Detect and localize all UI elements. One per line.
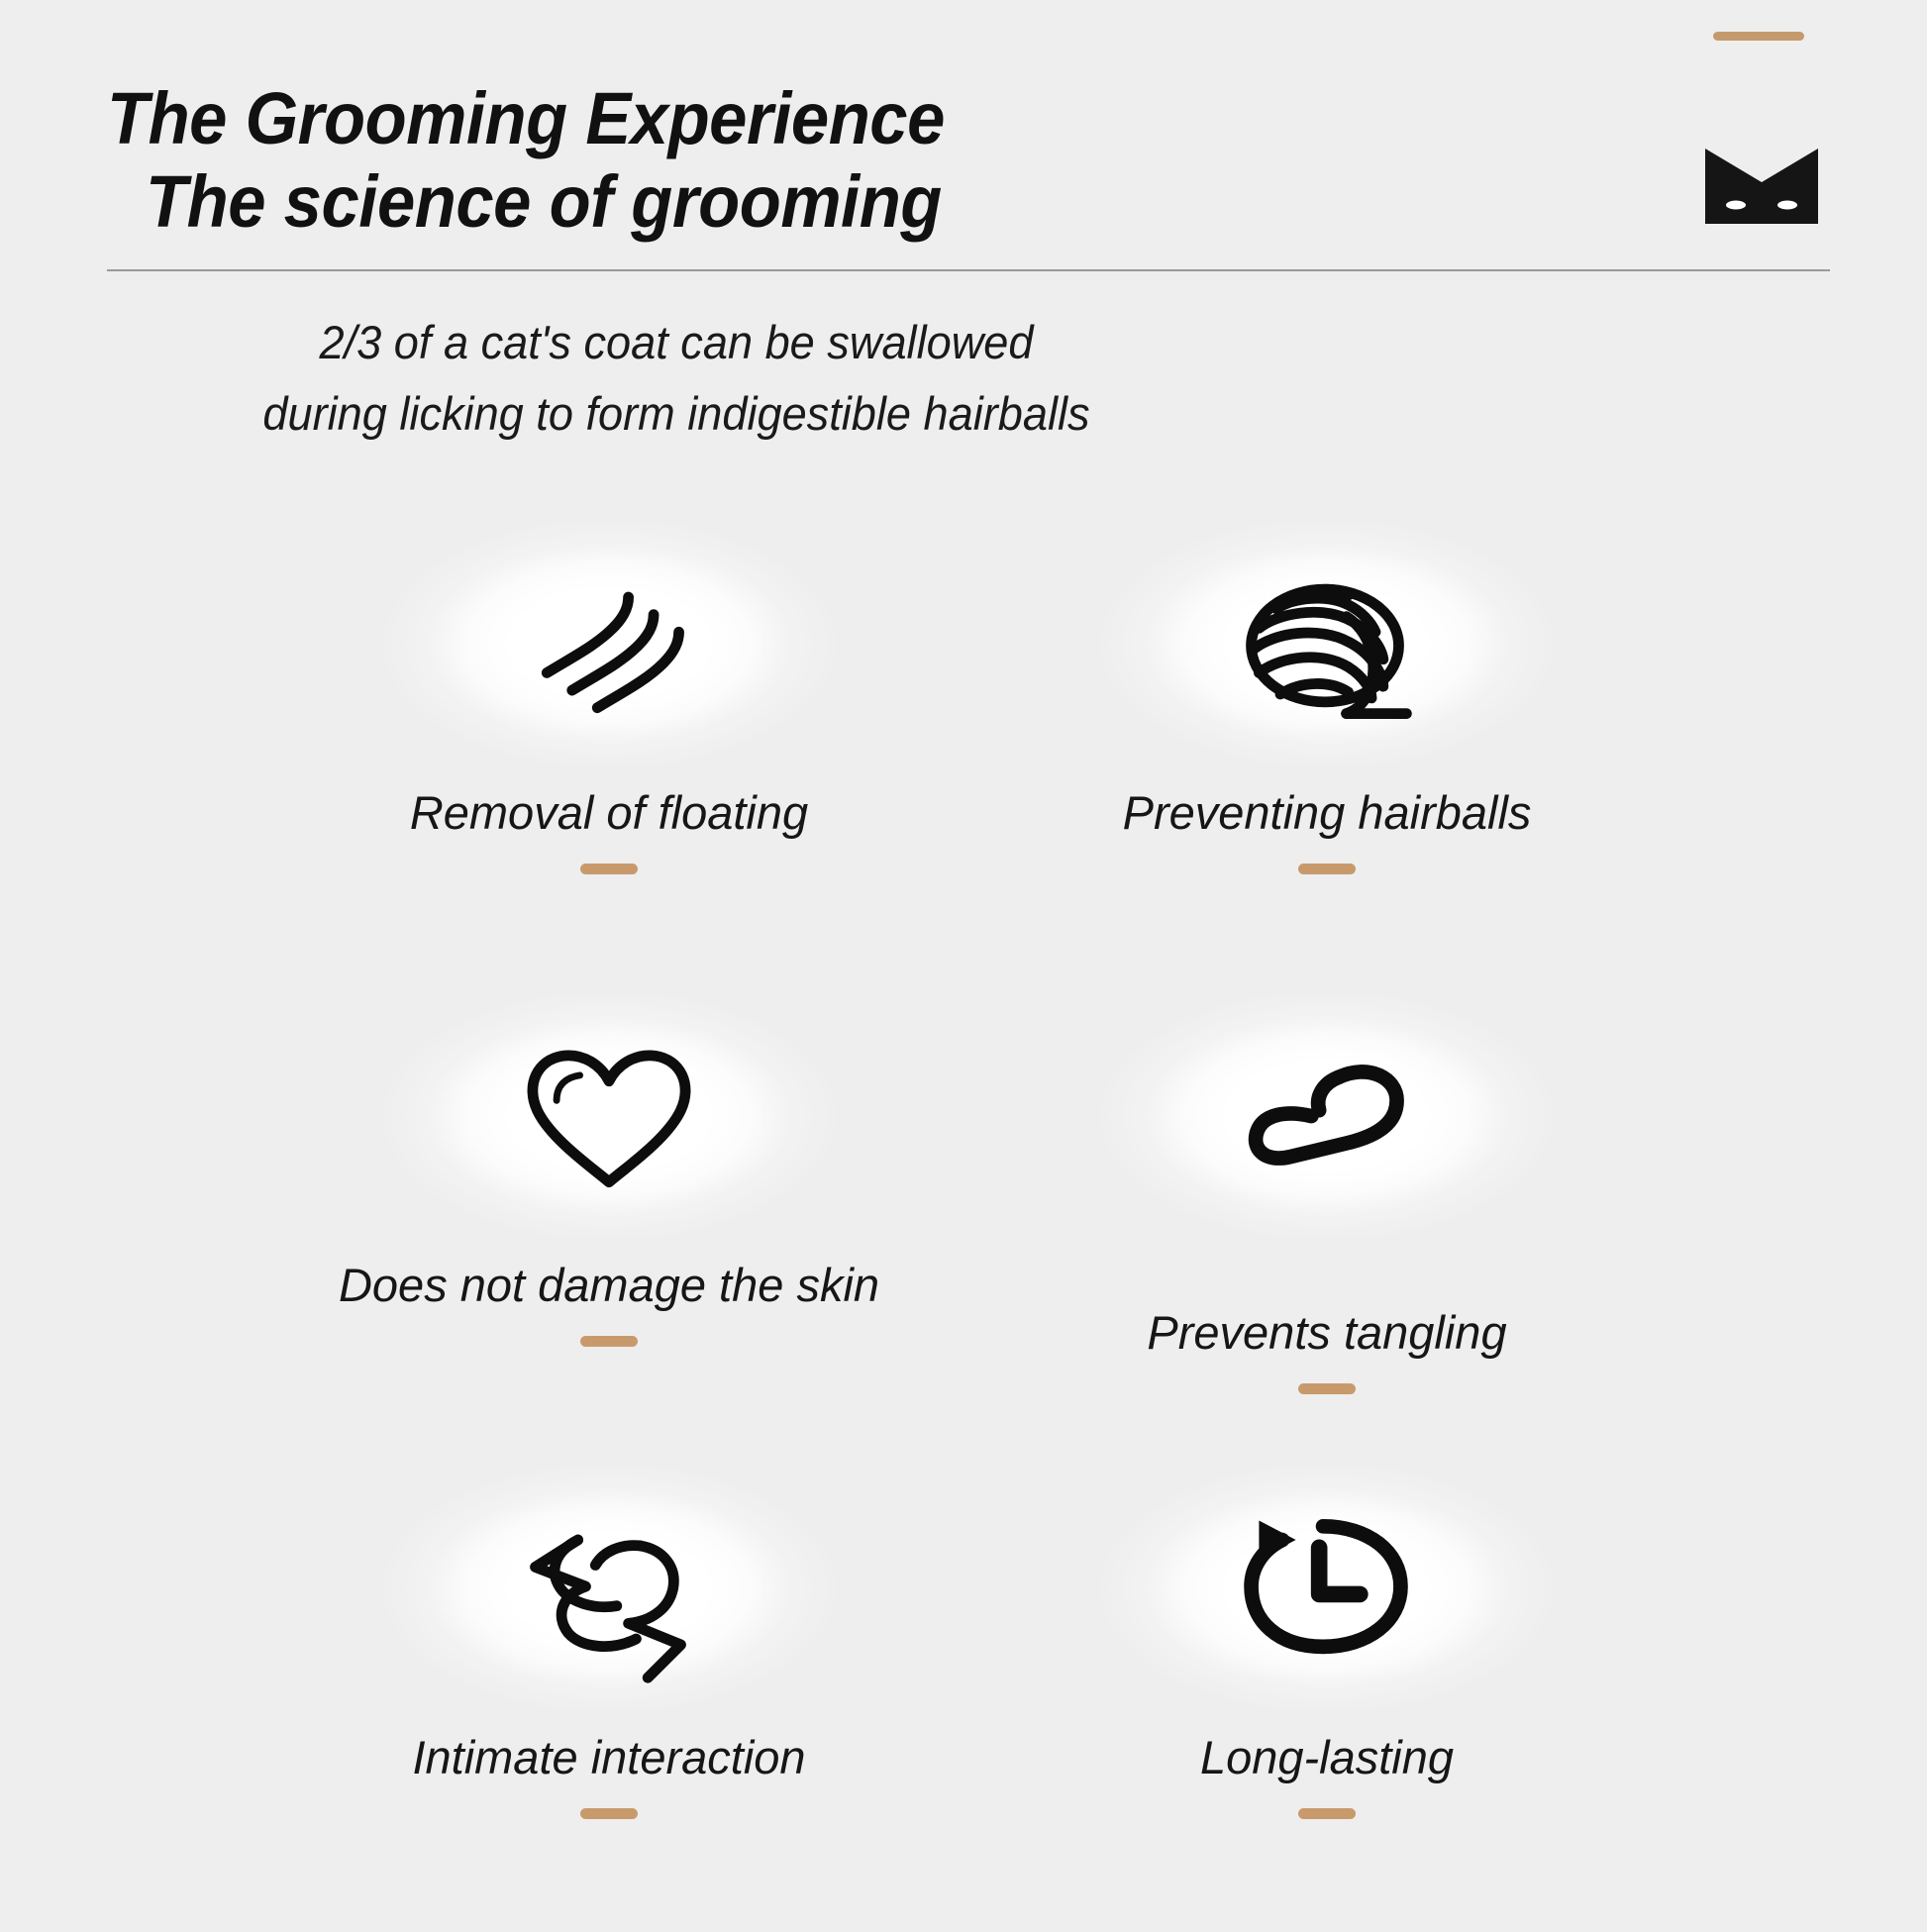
- logo-accent-bar: [1713, 32, 1804, 41]
- feature-label: Removal of floating: [262, 784, 956, 842]
- clock-rotate-icon: [1230, 1493, 1424, 1687]
- heart-icon: [512, 1021, 706, 1215]
- brand-logo: [1691, 22, 1860, 220]
- subtitle-line-1: 2/3 of a cat's coat can be swallowed: [130, 307, 1223, 378]
- header: The Grooming Experience The science of g…: [0, 0, 1927, 287]
- label-underline: [1298, 1808, 1356, 1819]
- feature-row: Intimate interaction Lon: [0, 1460, 1927, 1932]
- page-title: The Grooming Experience The science of g…: [107, 77, 1394, 244]
- feature-cell-removal-of-floating: Removal of floating: [262, 515, 956, 987]
- label-underline: [580, 1336, 638, 1347]
- feature-cell-intimate-interaction: Intimate interaction: [262, 1460, 956, 1932]
- title-line-primary: The Grooming Experience: [107, 77, 1304, 160]
- feature-cell-prevents-tangling: Prevents tangling: [980, 987, 1673, 1460]
- feature-cell-preventing-hairballs: Preventing hairballs: [980, 515, 1673, 987]
- label-underline: [580, 864, 638, 874]
- feature-grid: Removal of floating: [0, 515, 1927, 1932]
- feature-cell-long-lasting: Long-lasting: [980, 1460, 1673, 1932]
- cat-mask-logo-icon: [1705, 149, 1818, 224]
- exchange-arrows-icon: [512, 1493, 706, 1687]
- title-line-secondary: The science of grooming: [107, 160, 1304, 244]
- subtitle: 2/3 of a cat's coat can be swallowed dur…: [107, 307, 1246, 450]
- subtitle-line-2: during licking to form indigestible hair…: [130, 378, 1223, 450]
- label-underline: [1298, 1383, 1356, 1394]
- feature-cell-does-not-damage-the-skin: Does not damage the skin: [262, 987, 956, 1460]
- feature-row: Removal of floating: [0, 515, 1927, 987]
- feature-label: Prevents tangling: [980, 1304, 1673, 1362]
- yarn-hairball-icon: [1230, 549, 1424, 743]
- feature-label: Long-lasting: [980, 1729, 1673, 1786]
- label-underline: [580, 1808, 638, 1819]
- feature-row: Does not damage the skin Prevents tangli…: [0, 987, 1927, 1460]
- feature-label: Does not damage the skin: [262, 1257, 956, 1314]
- feature-label: Intimate interaction: [262, 1729, 956, 1786]
- label-underline: [1298, 864, 1356, 874]
- knot-anti-tangle-icon: [1230, 1021, 1424, 1215]
- hair-strands-icon: [512, 549, 706, 743]
- infographic-page: The Grooming Experience The science of g…: [0, 0, 1927, 1927]
- header-divider: [107, 269, 1830, 271]
- feature-label: Preventing hairballs: [980, 784, 1673, 842]
